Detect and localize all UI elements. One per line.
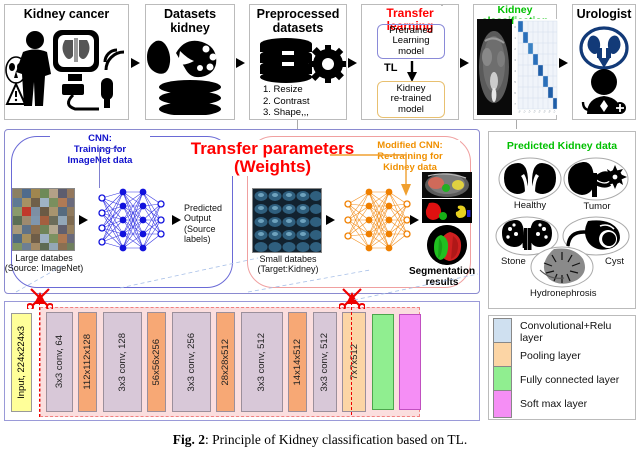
pipeline-step-transfer-learning: Transfer learning Pretrained Learning mo… <box>361 4 459 120</box>
cnn-layer-3-conv: 3x3 conv, 128 <box>103 312 142 412</box>
confusion-matrix: 012 345 67 c0 c1 c2 c3 c4 c5 c6 c7 <box>514 19 558 115</box>
legend-item-list: Convolutional+Relu layer Pooling layerFu… <box>493 320 633 416</box>
legend-item-4: Soft max layer <box>493 392 633 416</box>
legend-swatch <box>493 390 512 418</box>
cnn-layer-stack: 3x3 conv, 64112x112x1283x3 conv, 12856x5… <box>46 312 421 413</box>
cut-line-right <box>351 297 352 415</box>
pipeline-arrow-1 <box>131 58 140 68</box>
preprocess-step-2: 2. Contrast <box>263 96 346 108</box>
pipeline-step-kidney-cancer: Kidney cancer <box>4 4 129 120</box>
ct-scan-thumbnail <box>477 19 512 115</box>
kidney-dataset-illustration <box>146 35 234 115</box>
figure-caption-sep: : <box>205 432 209 447</box>
kidney-class-tumor-label: Tumor <box>563 201 631 212</box>
database-gear-illustration <box>250 36 346 84</box>
cnn-input-label: Input, 224x224x3 <box>16 326 27 399</box>
step-title-urologist: Urologist <box>573 8 635 22</box>
kidney-class-healthy: Healthy <box>498 157 562 213</box>
svg-text:0: 0 <box>514 25 516 29</box>
svg-text:7: 7 <box>514 102 516 106</box>
cnn-layer-9-conv: 3x3 conv, 512 <box>313 312 337 412</box>
kidney-class-healthy-label: Healthy <box>498 200 562 211</box>
connector-classification-down <box>516 120 517 129</box>
pipeline-step-kidney-classification <box>441 4 443 6</box>
target-input-arrow <box>326 215 335 225</box>
urologist-illustration <box>573 22 635 116</box>
cnn-layer-label: 56x56x256 <box>151 339 162 385</box>
cnn-layer-4-pool: 56x56x256 <box>147 312 166 412</box>
zoom-connector-lines <box>2 250 482 300</box>
kidney-class-tumor: Tumor <box>563 157 631 213</box>
svg-text:5: 5 <box>514 80 516 84</box>
cnn-layer-6-pool: 28x28x512 <box>216 312 235 412</box>
pretrained-model-label: Pretrained Learning model <box>389 26 433 58</box>
legend-item-1: Convolutional+Relu layer <box>493 320 633 344</box>
kidney-mosaic-thumbnail <box>252 188 322 253</box>
kidney-class-hydronephrosis: Hydronephrosis <box>530 246 596 304</box>
source-output-arrow <box>172 215 181 225</box>
cut-line-left <box>39 297 40 417</box>
segmentation-mask-thumbnail <box>422 199 472 223</box>
cnn-layer-label: 14x14x512 <box>292 339 303 385</box>
tl-down-arrow-icon <box>405 61 419 83</box>
segmentation-input-arrow <box>410 215 419 225</box>
figure-caption: Fig. 2: Principle of Kidney classificati… <box>0 432 640 448</box>
legend-label: Convolutional+Relu layer <box>520 320 633 344</box>
connector-preprocessed-down <box>297 120 298 129</box>
pipeline-step-preprocessed: Preprocessed datasets 1. Resize 2. <box>249 4 347 120</box>
figure-root: Kidney cancer <box>0 0 640 456</box>
step-title-datasets-kidney: Datasets kidney <box>146 8 234 35</box>
hydronephrosis-kidney-icon <box>530 246 594 288</box>
cnn-layer-label: 3x3 conv, 512 <box>319 333 330 391</box>
pipeline-arrow-4 <box>460 58 469 68</box>
source-cnn-network <box>95 184 167 256</box>
cnn-layer-7-conv: 3x3 conv, 512 <box>241 312 283 412</box>
source-label-connector <box>99 148 100 188</box>
step-title-kidney-cancer: Kidney cancer <box>5 8 128 22</box>
svg-text:c5: c5 <box>544 110 547 114</box>
cnn-layer-label: 3x3 conv, 256 <box>186 333 197 391</box>
svg-text:c0: c0 <box>519 110 522 114</box>
svg-text:c2: c2 <box>529 110 532 114</box>
svg-text:4: 4 <box>514 69 516 73</box>
pipeline-step-datasets-kidney: Datasets kidney <box>145 4 235 120</box>
pipeline-arrow-2 <box>236 58 245 68</box>
cnn-layer-8-pool: 14x14x512 <box>288 312 307 412</box>
legend-label: Pooling layer <box>520 350 581 362</box>
legend-item-3: Fully connected layer <box>493 368 633 392</box>
segmentation-ct-thumbnail <box>422 172 472 198</box>
cnn-input-block: Input, 224x224x3 <box>11 313 32 412</box>
figure-caption-text: Principle of Kidney classification based… <box>212 432 467 447</box>
cnn-layer-1-conv: 3x3 conv, 64 <box>46 312 73 412</box>
cnn-layer-label: 3x3 conv, 64 <box>54 335 65 388</box>
svg-text:c7: c7 <box>554 110 557 114</box>
svg-text:c3: c3 <box>534 110 537 114</box>
cnn-layer-10-pool2: 7x7x512 <box>342 312 366 412</box>
pipeline-arrow-3 <box>348 58 357 68</box>
kidney-class-hydronephrosis-label: Hydronephrosis <box>530 288 596 299</box>
tumor-kidney-icon <box>563 157 629 201</box>
imagenet-mosaic-thumbnail <box>12 188 75 251</box>
legend-item-2: Pooling layer <box>493 344 633 368</box>
cnn-layer-5-conv: 3x3 conv, 256 <box>172 312 211 412</box>
source-label-connector-h <box>99 148 121 149</box>
svg-text:c6: c6 <box>549 110 552 114</box>
svg-text:6: 6 <box>514 91 516 95</box>
predicted-output-label: Predicted Output (Source labels) <box>184 203 242 244</box>
cnn-layer-11-fc <box>372 314 394 410</box>
legend-label: Fully connected layer <box>520 374 619 386</box>
cnn-layer-label: 112x112x128 <box>82 334 93 390</box>
kidney-cancer-illustration <box>5 22 128 114</box>
svg-text:c4: c4 <box>539 110 542 114</box>
svg-text:2: 2 <box>514 47 516 51</box>
preprocess-step-3: 3. Shape,,, <box>263 107 346 119</box>
pipeline-arrow-5 <box>559 58 568 68</box>
preprocess-step-list: 1. Resize 2. Contrast 3. Shape,,, <box>263 84 346 119</box>
preprocess-step-1: 1. Resize <box>263 84 346 96</box>
svg-text:c1: c1 <box>524 110 527 114</box>
svg-text:1: 1 <box>514 36 516 40</box>
retrained-model-label: Kidney re-trained model <box>391 84 432 116</box>
cnn-layer-label: 28x28x512 <box>220 339 231 385</box>
transfer-weights-arrow <box>330 151 420 197</box>
cnn-layer-label: 3x3 conv, 512 <box>256 333 267 391</box>
predicted-kidney-title: Predicted Kidney data <box>492 140 632 152</box>
cnn-layer-label: 3x3 conv, 128 <box>117 333 128 391</box>
source-cnn-label: CNN: Training for ImageNet data <box>50 133 150 167</box>
svg-text:3: 3 <box>514 58 516 62</box>
pipeline-step-urologist: Urologist <box>572 4 636 120</box>
cnn-layer-2-pool: 112x112x128 <box>78 312 97 412</box>
retrained-model-box: Kidney re-trained model <box>377 81 445 118</box>
cnn-layer-12-sm <box>399 314 421 410</box>
figure-caption-label: Fig. 2 <box>173 432 205 447</box>
step-title-preprocessed: Preprocessed datasets <box>250 8 346 35</box>
tl-arrow-label: TL <box>384 62 397 74</box>
healthy-kidney-icon <box>498 157 562 201</box>
pretrained-model-box: Pretrained Learning model <box>377 24 445 59</box>
source-input-arrow <box>79 215 88 225</box>
legend-label: Soft max layer <box>520 398 587 410</box>
